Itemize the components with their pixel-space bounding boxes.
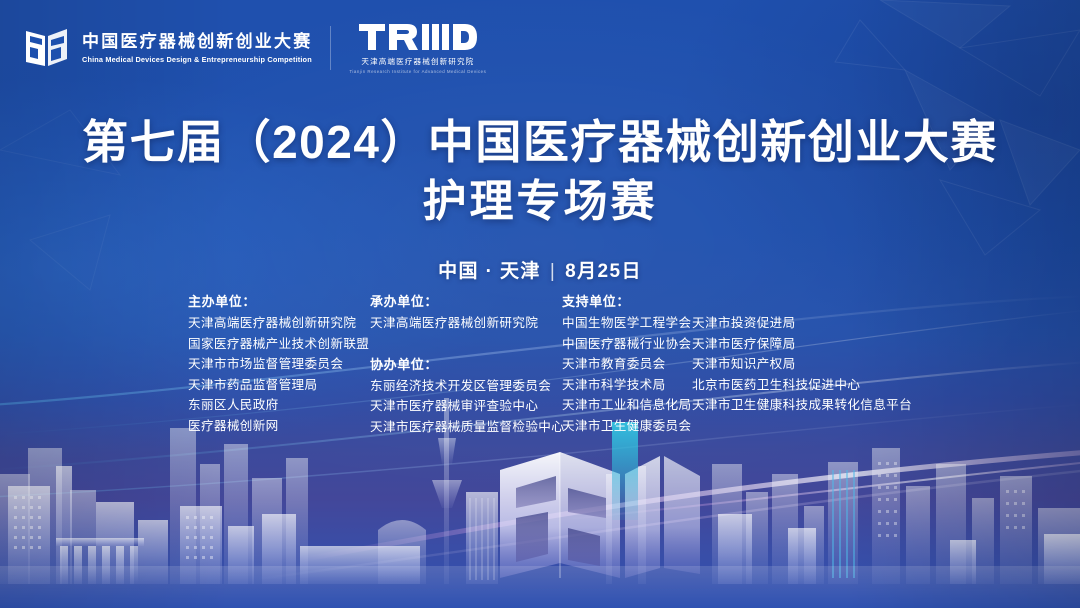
list-item: 医疗器械创新网 [188, 416, 370, 437]
title-line-1: 第七届（2024）中国医疗器械创新创业大赛 [0, 112, 1080, 173]
institute-logo-en: Tianjin Research Institute for Advanced … [349, 69, 486, 74]
list-item: 天津高端医疗器械创新研究院 [188, 313, 370, 334]
organizer-column: 承办单位： 天津高端医疗器械创新研究院 协办单位： 东丽经济技术开发区管理委员会… [370, 291, 562, 437]
subtitle-separator: | [550, 261, 556, 283]
event-date: 8月25日 [565, 261, 642, 282]
supporters-column: 支持单位： 中国生物医学工程学会 中国医疗器械行业协会 天津市教育委员会 天津市… [562, 291, 912, 436]
host-heading: 主办单位： [188, 291, 370, 312]
list-item: 中国生物医学工程学会 [562, 313, 692, 334]
trmd-wordmark-icon [359, 22, 477, 52]
list-item: 天津市卫生健康委员会 [562, 416, 692, 437]
list-item: 天津市医疗器械质量监督检验中心 [370, 417, 562, 438]
list-item: 天津高端医疗器械创新研究院 [370, 313, 562, 334]
institute-logo-cn: 天津高端医疗器械创新研究院 [361, 56, 474, 67]
list-item: 天津市卫生健康科技成果转化信息平台 [692, 395, 912, 416]
coorganizer-heading: 协办单位： [370, 354, 562, 375]
competition-logo-en: China Medical Devices Design & Entrepren… [82, 55, 317, 64]
title-line-2: 护理专场赛 [0, 173, 1080, 231]
list-item: 国家医疗器械产业技术创新联盟 [188, 334, 370, 355]
event-location: 中国 · 天津 [438, 261, 541, 282]
competition-logo-cn: 中国医疗器械创新创业大赛 [82, 32, 312, 52]
list-item: 东丽经济技术开发区管理委员会 [370, 376, 562, 397]
list-item: 天津市投资促进局 [692, 313, 912, 334]
competition-logo: 中国医疗器械创新创业大赛 China Medical Devices Desig… [24, 25, 312, 71]
host-column: 主办单位： 天津高端医疗器械创新研究院 国家医疗器械产业技术创新联盟 天津市市场… [188, 291, 370, 436]
poster-canvas: 中国医疗器械创新创业大赛 China Medical Devices Desig… [0, 0, 1080, 608]
page-title: 第七届（2024）中国医疗器械创新创业大赛 护理专场赛 [0, 112, 1080, 231]
list-item: 天津市工业和信息化局 [562, 395, 692, 416]
list-item: 天津市药品监督管理局 [188, 375, 370, 396]
supporters-subcolumn-a: 中国生物医学工程学会 中国医疗器械行业协会 天津市教育委员会 天津市科学技术局 … [562, 313, 692, 436]
header-logos: 中国医疗器械创新创业大赛 China Medical Devices Desig… [24, 22, 486, 74]
list-item: 东丽区人民政府 [188, 395, 370, 416]
column-spacer [370, 334, 562, 354]
supporters-subcolumn-b: 天津市投资促进局 天津市医疗保障局 天津市知识产权局 北京市医药卫生科技促进中心… [692, 313, 912, 436]
list-item: 天津市教育委员会 [562, 354, 692, 375]
list-item: 中国医疗器械行业协会 [562, 334, 692, 355]
organizer-heading: 承办单位： [370, 291, 562, 312]
institute-logo: 天津高端医疗器械创新研究院 Tianjin Research Institute… [349, 22, 486, 74]
event-subtitle: 中国 · 天津|8月25日 [0, 256, 1080, 283]
logo-divider [330, 26, 331, 70]
list-item: 天津市医疗保障局 [692, 334, 912, 355]
list-item: 天津市医疗器械审评查验中心 [370, 396, 562, 417]
list-item: 天津市知识产权局 [692, 354, 912, 375]
list-item: 天津市科学技术局 [562, 375, 692, 396]
organizer-block: 主办单位： 天津高端医疗器械创新研究院 国家医疗器械产业技术创新联盟 天津市市场… [188, 291, 912, 437]
list-item: 天津市市场监督管理委员会 [188, 354, 370, 375]
supporters-heading: 支持单位： [562, 291, 912, 312]
open-door-icon [24, 25, 72, 71]
list-item: 北京市医药卫生科技促进中心 [692, 375, 912, 396]
